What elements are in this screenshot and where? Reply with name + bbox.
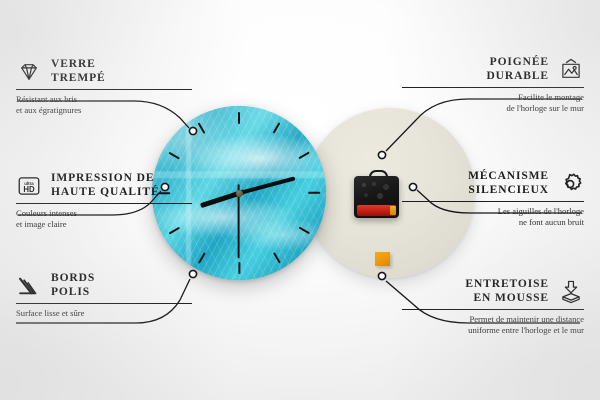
feature-title: IMPRESSION DE HAUTE QUALITÉ: [51, 172, 160, 199]
polished-edges-icon: [16, 273, 42, 299]
feature-title: POIGNÉE DURABLE: [486, 56, 549, 83]
feature-title: ENTRETOISE EN MOUSSE: [465, 278, 549, 305]
feature-divider: [16, 203, 192, 204]
feature-bords-polis: BORDS POLIS Surface lisse et sûre: [16, 272, 192, 319]
feature-impression-haute-qualite: ultra HD IMPRESSION DE HAUTE QUALITÉ Cou…: [16, 172, 192, 229]
mechanism-detail: [358, 181, 395, 201]
feature-title: BORDS POLIS: [51, 272, 95, 299]
feature-divider: [402, 201, 584, 202]
feature-divider: [402, 87, 584, 88]
picture-hanger-icon: [558, 57, 584, 83]
feature-description: Surface lisse et sûre: [16, 308, 192, 318]
feature-divider: [16, 89, 192, 90]
feature-description: Facilite le montage de l'horloge sur le …: [402, 92, 584, 113]
battery-aa: [357, 205, 396, 216]
gear-icon: [558, 171, 584, 197]
feature-mecanisme-silencieux: MÉCANISME SILENCIEUX Les aiguilles de l'…: [402, 170, 584, 227]
feature-description: Permet de maintenir une distance uniform…: [402, 314, 584, 335]
feature-poignee-durable: POIGNÉE DURABLE Facilite le montage de l…: [402, 56, 584, 113]
feature-verre-trempe: VERRE TREMPÉ Résistant aux bris et aux é…: [16, 58, 192, 115]
feature-description: Résistant aux bris et aux égratignures: [16, 94, 192, 115]
hour-tick: [238, 262, 240, 274]
svg-text:HD: HD: [23, 185, 35, 194]
feature-entretoise-en-mousse: ENTRETOISE EN MOUSSE Permet de maintenir…: [402, 278, 584, 335]
infographic-stage: VERRE TREMPÉ Résistant aux bris et aux é…: [0, 0, 600, 400]
feature-description: Couleurs intenses et image claire: [16, 208, 192, 229]
feature-divider: [16, 303, 192, 304]
foam-spacer-icon: [558, 279, 584, 305]
diamond-icon: [16, 59, 42, 85]
ultra-hd-badge-icon: ultra HD: [16, 173, 42, 199]
feature-title: MÉCANISME SILENCIEUX: [468, 170, 549, 197]
feature-title: VERRE TREMPÉ: [51, 58, 106, 85]
feature-divider: [402, 309, 584, 310]
feature-description: Les aiguilles de l'horloge ne font aucun…: [402, 206, 584, 227]
foam-spacer-orange: [375, 252, 390, 266]
hands-center-cap: [236, 190, 243, 197]
